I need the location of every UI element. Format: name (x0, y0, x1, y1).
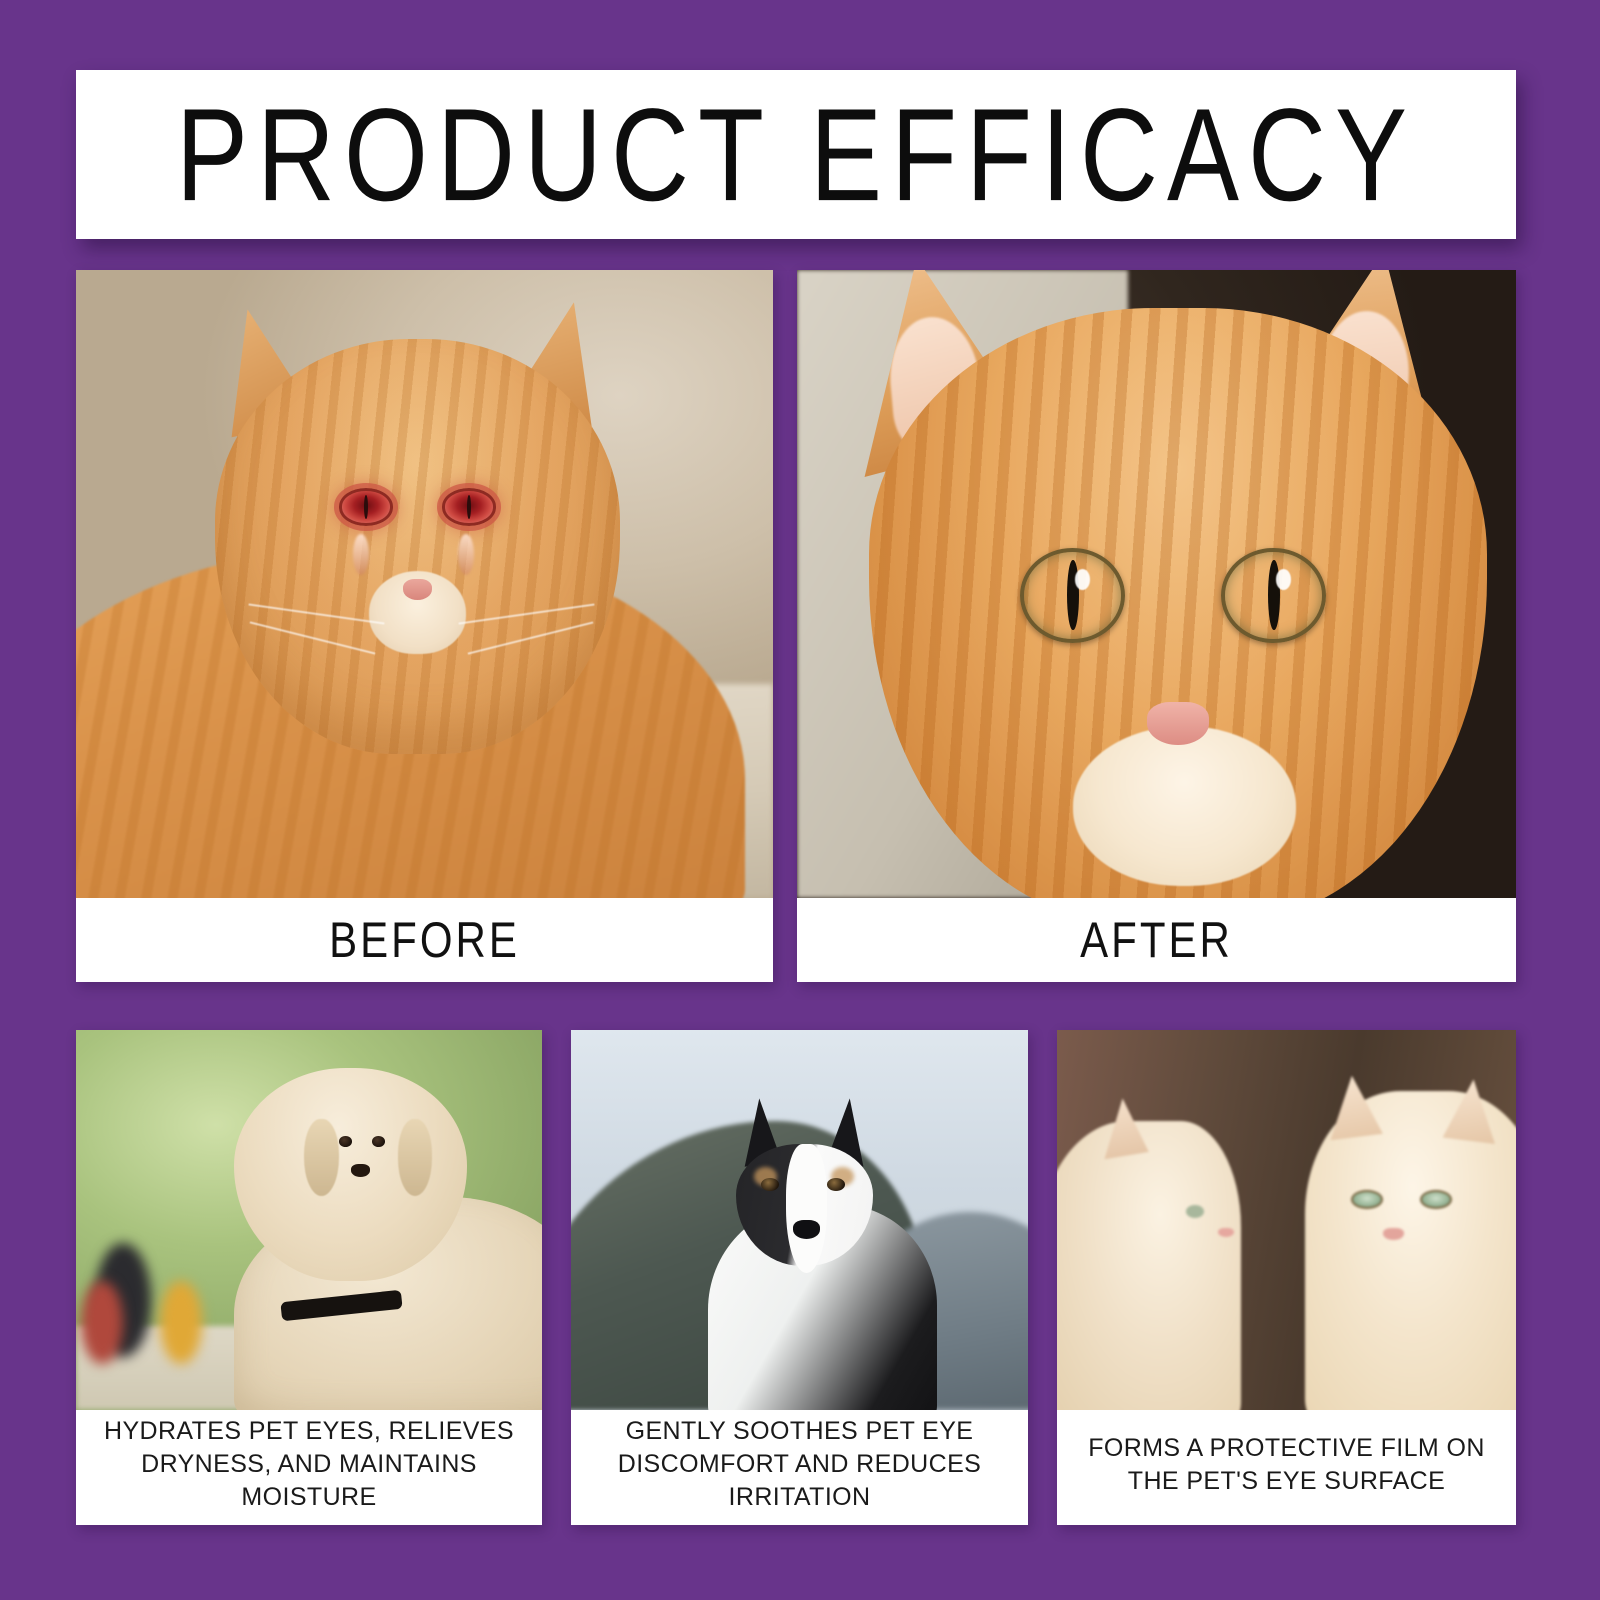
before-photo (76, 270, 773, 898)
irritated-eye-left (339, 488, 394, 525)
benefit-caption-1: HYDRATES PET EYES, RELIEVES DRYNESS, AND… (90, 1415, 528, 1514)
benefit-card-3: FORMS A PROTECTIVE FILM ON THE PET'S EYE… (1057, 1030, 1516, 1525)
product-efficacy-poster: PRODUCT EFFICACY (0, 0, 1600, 1600)
page-title: PRODUCT EFFICACY (176, 89, 1416, 221)
comparison-label-after: AFTER (1080, 911, 1233, 969)
healthy-eye-left (1020, 548, 1125, 643)
benefit-caption-band-3: FORMS A PROTECTIVE FILM ON THE PET'S EYE… (1057, 1410, 1516, 1525)
after-photo (797, 270, 1516, 898)
irritated-eye-right (442, 488, 497, 525)
comparison-card-after: AFTER (797, 270, 1516, 982)
benefit-card-2: GENTLY SOOTHES PET EYE DISCOMFORT AND RE… (571, 1030, 1028, 1525)
comparison-label-before: BEFORE (329, 911, 520, 969)
healthy-eye-right (1221, 548, 1326, 643)
benefit-caption-band-1: HYDRATES PET EYES, RELIEVES DRYNESS, AND… (76, 1410, 542, 1525)
benefit-photo-two-cats (1057, 1030, 1516, 1410)
title-banner: PRODUCT EFFICACY (76, 70, 1516, 239)
after-label-band: AFTER (797, 898, 1516, 982)
benefit-photo-poodle (76, 1030, 542, 1410)
benefit-caption-band-2: GENTLY SOOTHES PET EYE DISCOMFORT AND RE… (571, 1410, 1028, 1525)
comparison-card-before: BEFORE (76, 270, 773, 982)
before-label-band: BEFORE (76, 898, 773, 982)
benefit-photo-collie (571, 1030, 1028, 1410)
benefit-caption-2: GENTLY SOOTHES PET EYE DISCOMFORT AND RE… (585, 1415, 1014, 1514)
benefit-card-1: HYDRATES PET EYES, RELIEVES DRYNESS, AND… (76, 1030, 542, 1525)
benefits-row: HYDRATES PET EYES, RELIEVES DRYNESS, AND… (76, 1030, 1516, 1525)
benefit-caption-3: FORMS A PROTECTIVE FILM ON THE PET'S EYE… (1071, 1432, 1502, 1498)
before-after-comparison: BEFORE AFTER (76, 270, 1516, 982)
